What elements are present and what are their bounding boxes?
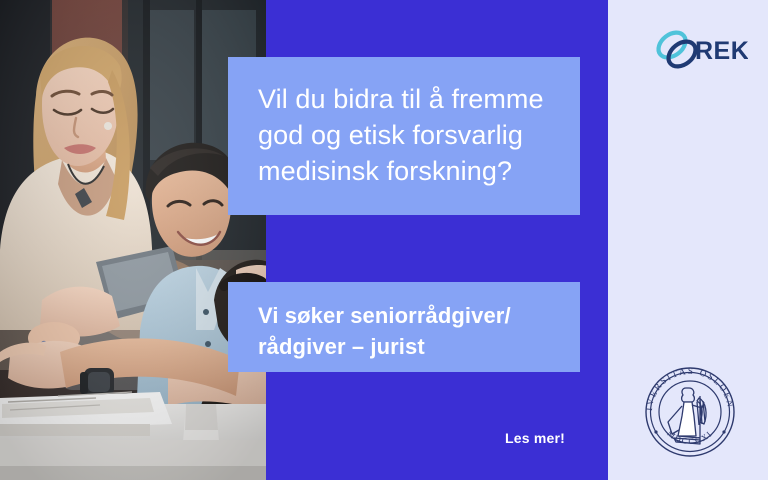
headline-textbox: Vil du bidra til å fremme god og etisk f… xyxy=(228,57,580,215)
rek-wordmark: REK xyxy=(695,37,748,65)
recruitment-banner: Vil du bidra til å fremme god og etisk f… xyxy=(0,0,768,480)
rek-logo[interactable]: REK xyxy=(648,26,748,74)
read-more-link[interactable]: Les mer! xyxy=(505,430,565,446)
headline-text: Vil du bidra til å fremme god og etisk f… xyxy=(258,81,554,189)
job-title-text: Vi søker seniorrådgiver/ rådgiver – juri… xyxy=(258,300,554,362)
uio-seal: UNIVERSITAS OSLOENSIS MDCCCXI xyxy=(638,360,742,464)
job-title-textbox: Vi søker seniorrådgiver/ rådgiver – juri… xyxy=(228,282,580,372)
